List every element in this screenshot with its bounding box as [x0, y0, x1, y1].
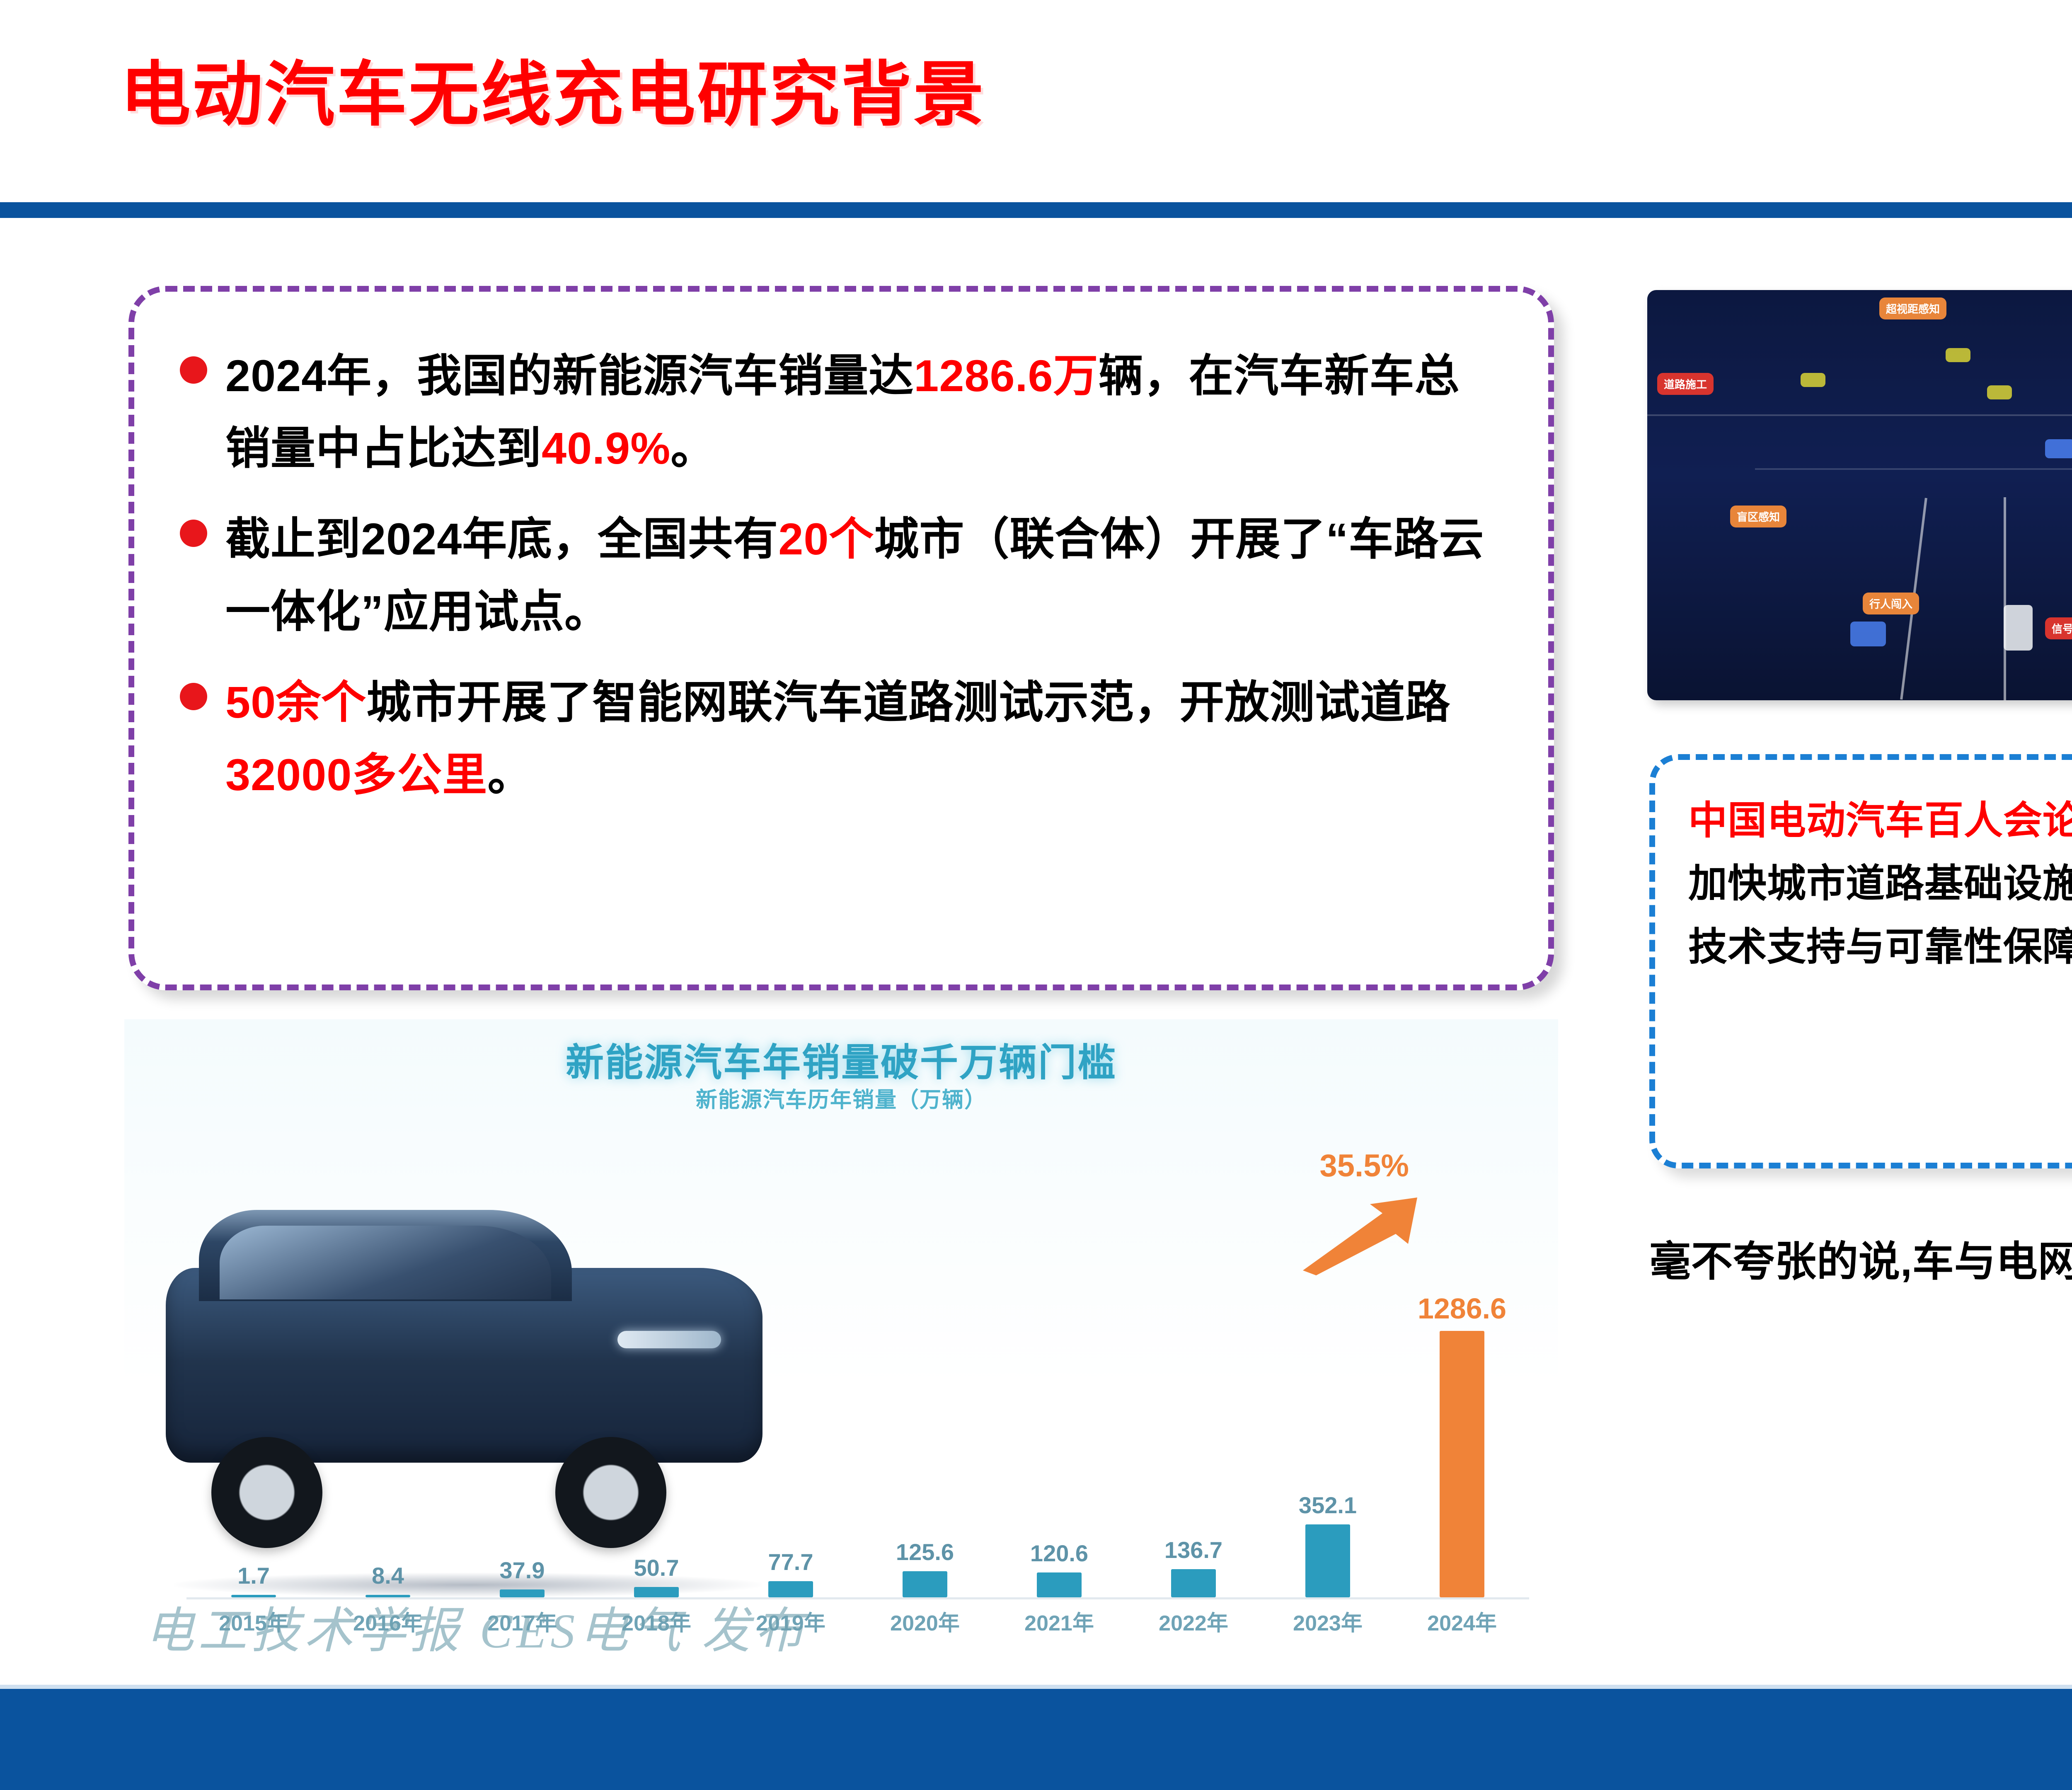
footer-divider [0, 1685, 2072, 1689]
bar [903, 1571, 947, 1597]
bar-value-label: 77.7 [768, 1548, 813, 1575]
bullet-dot-icon [180, 356, 207, 384]
chart-subtitle: 新能源汽车历年销量（万辆） [124, 1082, 1558, 1113]
bar-value-label: 50.7 [634, 1554, 679, 1581]
bar-value-label: 352.1 [1299, 1492, 1357, 1519]
bullet-dot-icon [180, 520, 207, 547]
bar-column: 8.4 [321, 1251, 455, 1597]
bar-column: 1286.6 [1395, 1251, 1529, 1597]
chart-watermark: 电工技术学报 CES电气 发布 [145, 1591, 808, 1662]
bar-value-label: 8.4 [372, 1562, 404, 1589]
bar-column: 37.9 [455, 1251, 589, 1597]
list-item: 50余个城市开展了智能网联汽车道路测试示范，开放测试道路32000多公里。 [134, 666, 1548, 811]
highlight-segment: 20个 [778, 514, 874, 564]
bar [1037, 1572, 1082, 1597]
bullet-text: 2024年，我国的新能源汽车销量达1286.6万辆，在汽车新车总销量中占比达到4… [225, 340, 1498, 485]
growth-annotation: 35.5% [1320, 1148, 1409, 1184]
bar-column: 120.6 [992, 1251, 1126, 1597]
text-segment: 城市开展了智能网联汽车道路测试示范，开放测试道路 [366, 677, 1450, 727]
bar-value-label: 37.9 [500, 1557, 545, 1584]
x-axis-tick: 2022年 [1126, 1606, 1261, 1637]
ev-sales-chart: 新能源汽车年销量破千万辆门槛 新能源汽车历年销量（万辆） 35.5% 1.78.… [124, 1019, 1558, 1686]
highlight-segment: 40.9% [542, 423, 670, 473]
text-segment: 截止到2024年底，全国共有 [225, 514, 778, 564]
tag-行人闯入: 行人闯入 [1863, 593, 1919, 614]
chart-plot-area: 1.78.437.950.777.7125.6120.6136.7352.112… [186, 1251, 1529, 1599]
bar-column: 352.1 [1261, 1251, 1395, 1597]
highlight-segment: 1286.6万 [914, 351, 1098, 401]
bar-value-label: 136.7 [1164, 1536, 1222, 1563]
traffic-scene-photo: 超视距感知 道路施工 事故车辆 盲区感知 行人闯入 信号灯通行 违章停车 0 k… [1647, 290, 2072, 700]
bar-column: 125.6 [858, 1251, 992, 1597]
forum-quote-panel: 中国电动汽车百人会论坛：无线电能传输技术，为加快车路云图一体化的试点，加快城市道… [1649, 754, 2072, 1168]
x-axis-tick: 2023年 [1261, 1606, 1395, 1637]
bullet-dot-icon [180, 683, 207, 710]
bar-column: 1.7 [186, 1251, 321, 1597]
footer-bar: 3 搜狐号@电气技术 [0, 1689, 2072, 1790]
bar [1440, 1331, 1484, 1597]
tag-信号灯通行: 信号灯通行 [2045, 617, 2072, 639]
key-facts-panel: 2024年，我国的新能源汽车销量达1286.6万辆，在汽车新车总销量中占比达到4… [128, 286, 1554, 990]
bar-value-label: 1.7 [237, 1562, 270, 1589]
list-item: 2024年，我国的新能源汽车销量达1286.6万辆，在汽车新车总销量中占比达到4… [134, 340, 1548, 485]
tag-超视距感知: 超视距感知 [1879, 298, 1946, 319]
highlight-segment: 32000多公里 [225, 750, 487, 800]
x-axis-tick: 2024年 [1395, 1606, 1529, 1637]
x-axis-tick: 2020年 [858, 1606, 992, 1637]
text-segment: 2024年，我国的新能源汽车销量达 [225, 351, 914, 401]
bar-column: 136.7 [1126, 1251, 1261, 1597]
tag-道路施工: 道路施工 [1657, 373, 1714, 395]
list-item: 截止到2024年底，全国共有20个城市（联合体）开展了“车路云一体化”应用试点。 [134, 503, 1548, 648]
closing-statement: 毫不夸张的说,车与电网能量互动最“聪明、优雅”的方式是无线电能传输。 [1649, 1226, 2072, 1297]
bullet-text: 50余个城市开展了智能网联汽车道路测试示范，开放测试道路32000多公里。 [225, 666, 1498, 811]
header-divider [0, 202, 2072, 218]
x-axis-tick: 2021年 [992, 1606, 1126, 1637]
bar-column: 50.7 [589, 1251, 724, 1597]
bar [1305, 1524, 1350, 1597]
bar-value-label: 120.6 [1030, 1540, 1088, 1567]
quote-paragraph: 中国电动汽车百人会论坛：无线电能传输技术，为加快车路云图一体化的试点，加快城市道… [1688, 789, 2072, 978]
tag-盲区感知: 盲区感知 [1730, 506, 1786, 527]
text-segment: 。 [670, 423, 716, 473]
quote-source-label: 中国电动汽车百人会论坛： [1688, 798, 2072, 842]
chart-title: 新能源汽车年销量破千万辆门槛 [124, 1032, 1558, 1087]
bullet-text: 截止到2024年底，全国共有20个城市（联合体）开展了“车路云一体化”应用试点。 [225, 503, 1498, 648]
highlight-segment: 50余个 [225, 677, 366, 727]
text-segment: 。 [487, 750, 533, 800]
bar-value-label: 1286.6 [1418, 1292, 1506, 1325]
page-title: 电动汽车无线充电研究背景 [120, 37, 985, 139]
bar [1171, 1569, 1216, 1597]
bar-value-label: 125.6 [896, 1538, 954, 1565]
text-segment: 毫不夸张的说,车与电网能量互动最 [1649, 1238, 2072, 1285]
bar-column: 77.7 [724, 1251, 858, 1597]
